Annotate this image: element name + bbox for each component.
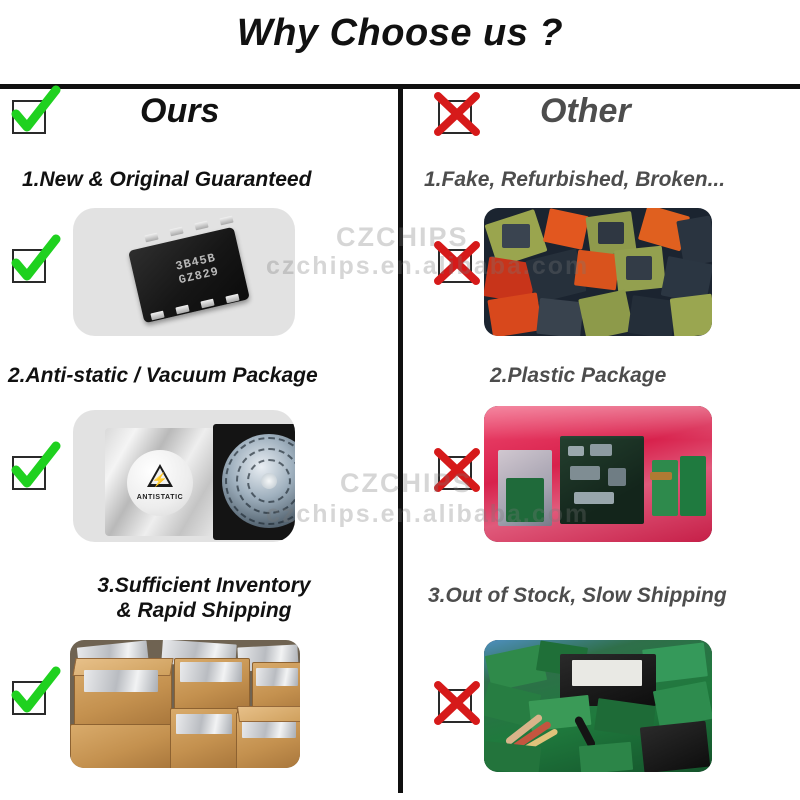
scrap-piece xyxy=(574,250,620,291)
black-component xyxy=(640,721,710,772)
cross-glyph xyxy=(430,233,488,291)
scrap-piece xyxy=(502,224,530,248)
bag-disc: ⚡ ANTISTATIC xyxy=(127,450,193,516)
row-1-red-x-icon xyxy=(434,243,480,289)
reel-case xyxy=(213,424,295,540)
pcb-component xyxy=(590,444,612,456)
row-2-red-x-icon xyxy=(434,450,480,496)
row-3-red-x-icon xyxy=(434,683,480,729)
header-red-x-icon xyxy=(434,94,480,140)
cross-glyph xyxy=(430,673,488,731)
row-3-label-other: 3.Out of Stock, Slow Shipping xyxy=(428,584,792,609)
column-header-ours: Ours xyxy=(140,92,219,131)
page-title: Why Choose us ? xyxy=(0,12,800,55)
row-1-label-other: 1.Fake, Refurbished, Broken... xyxy=(424,168,796,193)
row-1-label-ours: 1.New & Original Guaranteed xyxy=(22,168,382,193)
antistatic-pack xyxy=(180,662,242,682)
antistatic-pack xyxy=(84,670,158,692)
check-glyph xyxy=(4,233,62,291)
module-label xyxy=(572,660,642,686)
reel-hub xyxy=(261,473,277,489)
scrap-piece xyxy=(536,298,584,336)
row-3-image-ours xyxy=(70,640,300,768)
cross-glyph xyxy=(430,440,488,498)
carton-flap xyxy=(237,706,300,722)
row-3-image-other xyxy=(484,640,712,772)
check-glyph xyxy=(4,84,62,142)
scrap-pcb xyxy=(579,742,633,772)
pcb-component xyxy=(608,468,626,486)
row-3-label-ours: 3.Sufficient Inventory & Rapid Shipping xyxy=(34,574,374,624)
pcb-component xyxy=(650,472,672,480)
pcb-component xyxy=(568,446,584,456)
row-2-green-check-icon xyxy=(8,450,54,496)
column-header-other: Other xyxy=(540,92,631,131)
bag-sheen xyxy=(484,406,712,440)
chip-pin xyxy=(169,227,183,237)
scrap-piece xyxy=(598,222,624,244)
antistatic-bag: ⚡ ANTISTATIC xyxy=(105,428,217,536)
row-3-green-check-icon xyxy=(8,675,54,721)
bag-label: ANTISTATIC xyxy=(127,494,193,501)
row-2-label-ours: 2.Anti-static / Vacuum Package xyxy=(8,364,388,389)
column-divider xyxy=(398,87,403,793)
check-glyph xyxy=(4,440,62,498)
row-1-green-check-icon xyxy=(8,243,54,289)
scrap-piece xyxy=(487,292,542,336)
scrap-piece xyxy=(626,256,652,280)
chip-pin xyxy=(194,221,208,231)
row-1-image-other xyxy=(484,208,712,336)
check-glyph xyxy=(4,665,62,723)
pcb-component xyxy=(574,492,614,504)
pcb xyxy=(506,478,544,522)
scrap-piece xyxy=(670,294,712,336)
scrap-pcb xyxy=(484,741,541,772)
chip-pin xyxy=(225,294,239,304)
row-1-image-ours: 3B45B GZ829 xyxy=(73,208,295,336)
component-reel xyxy=(222,434,295,528)
row-2-label-other: 2.Plastic Package xyxy=(490,364,790,389)
pcb-component xyxy=(570,466,600,480)
scrap-piece xyxy=(592,302,618,324)
antistatic-pack xyxy=(176,714,232,734)
pcb xyxy=(652,460,678,516)
chip-pin xyxy=(144,233,158,243)
lightning-bolt-icon: ⚡ xyxy=(152,473,168,486)
cross-glyph xyxy=(430,84,488,142)
antistatic-pack xyxy=(256,668,298,686)
row-2-image-ours: ⚡ ANTISTATIC xyxy=(73,410,295,542)
why-choose-us-infographic: Why Choose us ? Ours Other 1.New & Origi… xyxy=(0,0,800,800)
carton xyxy=(70,724,176,768)
scrap-piece xyxy=(543,208,589,250)
chip-pin xyxy=(219,216,233,226)
header-green-check-icon xyxy=(8,94,54,140)
row-2-image-other xyxy=(484,406,712,542)
pcb xyxy=(680,456,706,516)
